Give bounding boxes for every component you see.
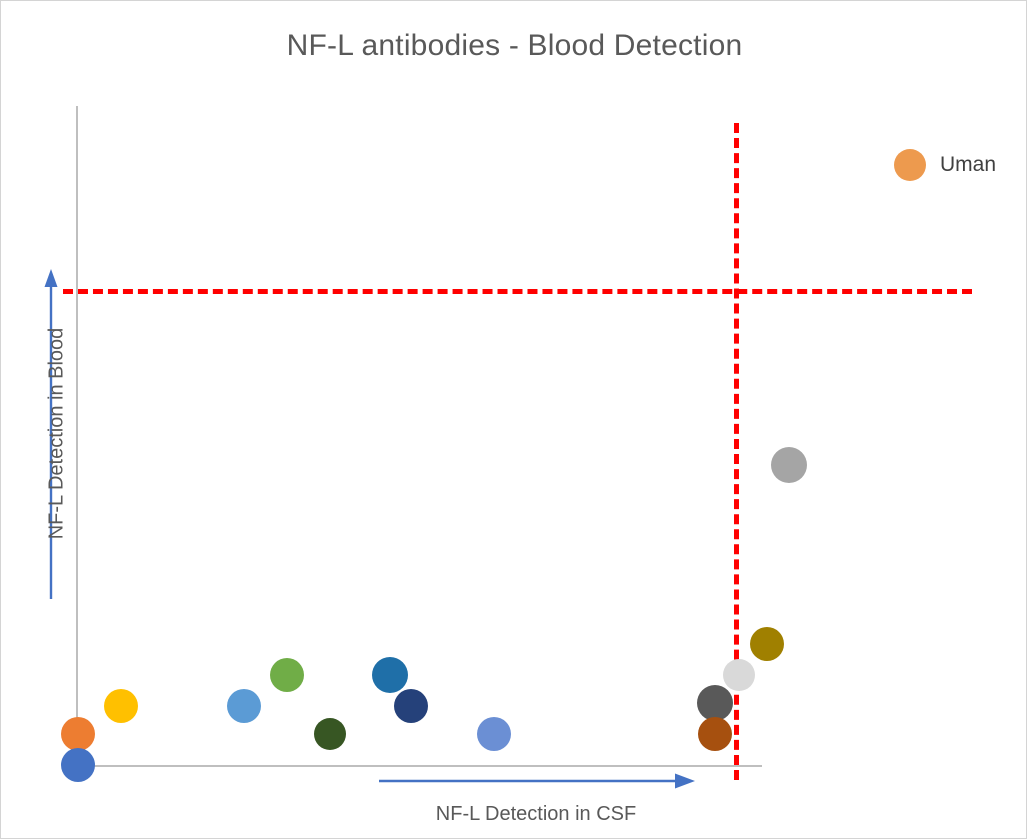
data-point-antibody-7 <box>372 657 408 693</box>
data-point-antibody-3 <box>104 689 138 723</box>
x-axis-direction-arrow <box>379 773 695 789</box>
data-point-antibody-11 <box>698 717 732 751</box>
chart-canvas: NF-L antibodies - Blood Detection NF-L D… <box>0 0 1027 839</box>
data-point-antibody-9 <box>477 717 511 751</box>
y-axis-label: NF-L Detection in Blood <box>46 274 69 594</box>
data-point-uman <box>61 717 95 751</box>
legend: Uman <box>894 149 996 181</box>
blood-detection-threshold-line <box>63 289 972 294</box>
data-point-antibody-4 <box>227 689 261 723</box>
legend-swatch-uman <box>894 149 926 181</box>
data-point-antibody-14 <box>771 447 807 483</box>
data-point-antibody-5 <box>270 658 304 692</box>
y-axis-line <box>76 106 78 767</box>
data-point-antibody-2 <box>61 748 95 782</box>
data-point-antibody-8 <box>394 689 428 723</box>
page-title: NF-L antibodies - Blood Detection <box>1 29 1027 63</box>
data-point-antibody-13 <box>750 627 784 661</box>
data-point-antibody-12 <box>723 659 755 691</box>
data-point-antibody-10 <box>697 685 733 721</box>
data-point-antibody-6 <box>314 718 346 750</box>
x-axis-label: NF-L Detection in CSF <box>256 803 816 826</box>
x-axis-line <box>76 765 762 767</box>
legend-label-uman: Uman <box>940 153 996 177</box>
